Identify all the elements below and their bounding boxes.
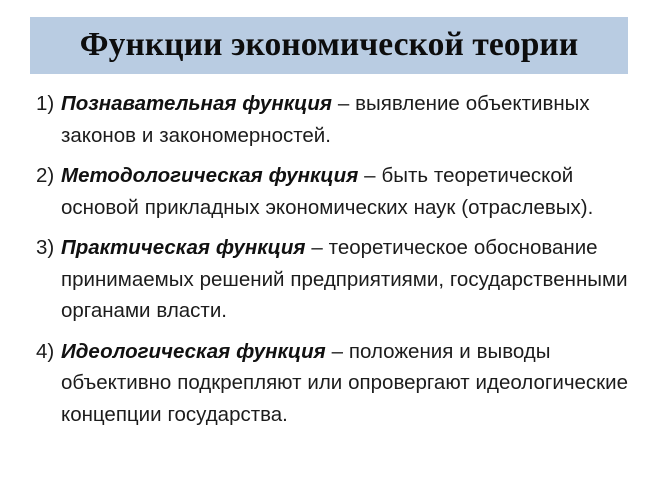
function-term: Познавательная функция	[61, 92, 332, 115]
list-item-marker: 4)	[36, 336, 61, 368]
term-separator: –	[358, 164, 381, 187]
list-item-text: Идеологическая функция – положения и выв…	[61, 336, 650, 431]
function-term: Практическая функция	[61, 236, 305, 259]
functions-list: 1) Познавательная функция – выявление об…	[36, 88, 650, 430]
title-band: Функции экономической теории	[30, 17, 628, 74]
list-item: 2) Методологическая функция – быть теоре…	[36, 160, 650, 223]
term-separator: –	[332, 92, 355, 115]
term-separator: –	[326, 340, 349, 363]
list-item-marker: 3)	[36, 232, 61, 264]
function-term: Методологическая функция	[61, 164, 358, 187]
function-term: Идеологическая функция	[61, 340, 326, 363]
list-item-marker: 2)	[36, 160, 61, 192]
list-item-marker: 1)	[36, 88, 61, 120]
term-separator: –	[305, 236, 328, 259]
list-item-text: Познавательная функция – выявление объек…	[61, 88, 650, 151]
list-item: 1) Познавательная функция – выявление об…	[36, 88, 650, 151]
list-item-text: Практическая функция – теоретическое обо…	[61, 232, 650, 327]
list-item: 3) Практическая функция – теоретическое …	[36, 232, 650, 327]
list-item-text: Методологическая функция – быть теоретич…	[61, 160, 650, 223]
page-title: Функции экономической теории	[80, 28, 578, 62]
list-item: 4) Идеологическая функция – положения и …	[36, 336, 650, 431]
slide: Функции экономической теории 1) Познават…	[0, 0, 659, 494]
